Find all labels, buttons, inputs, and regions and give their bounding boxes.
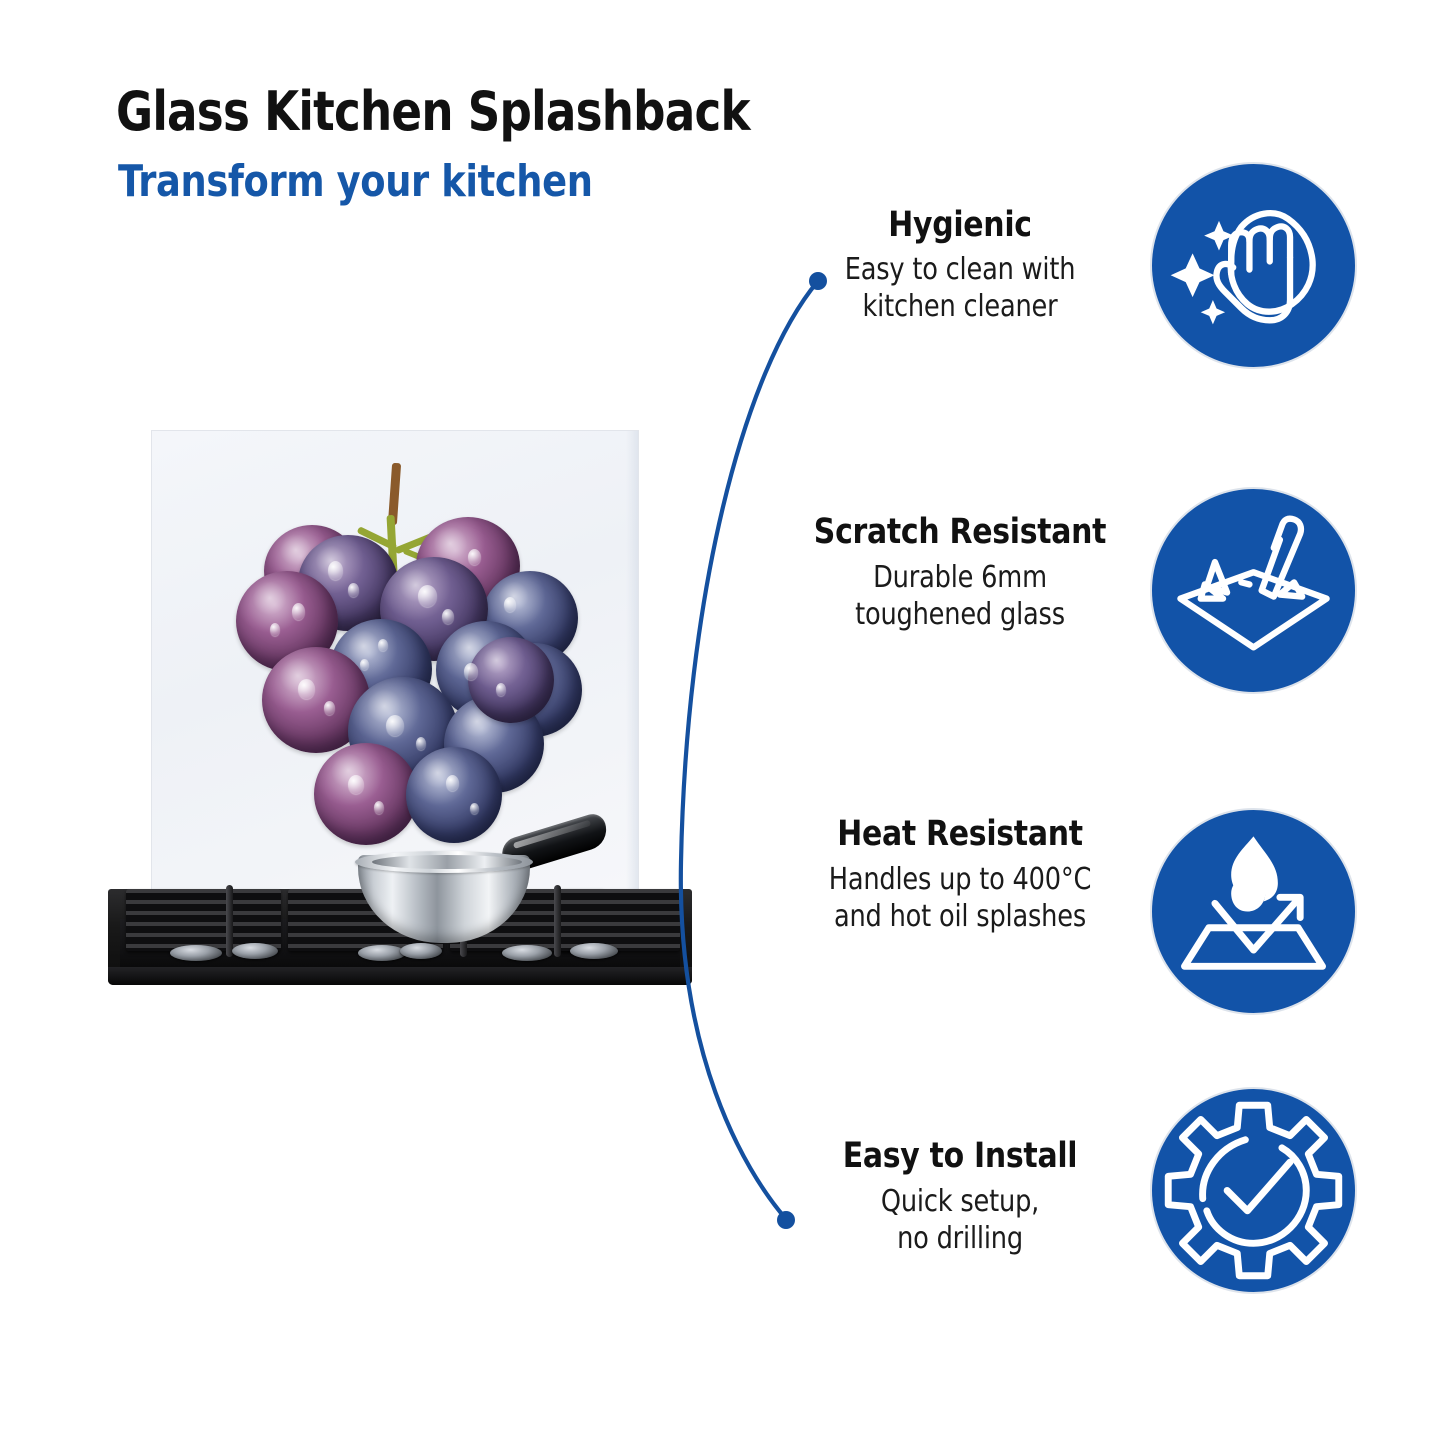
product-image [100, 420, 700, 1010]
feature-description: Quick setup, no drilling [780, 1184, 1141, 1257]
feature-icon-badge [1152, 164, 1355, 367]
feature-heading: Heat Resistant [780, 814, 1141, 854]
feature-icon-badge [1152, 489, 1355, 692]
flame-deflect-surface-icon [1152, 810, 1355, 1013]
wiping-hand-sparkle-icon [1152, 164, 1355, 367]
feature-heading: Hygienic [780, 205, 1141, 245]
feature-description-line: Handles up to 400°C [780, 862, 1141, 899]
feature-description-line: Durable 6mm [780, 560, 1141, 597]
feature-description-line: kitchen cleaner [780, 289, 1141, 326]
feature-description: Durable 6mm toughened glass [780, 560, 1141, 633]
feature-description-line: and hot oil splashes [780, 899, 1141, 936]
feature-icon-badge [1152, 1089, 1355, 1292]
feature-heading: Scratch Resistant [780, 512, 1141, 552]
feature-description: Easy to clean with kitchen cleaner [780, 252, 1141, 325]
feature-description: Handles up to 400°C and hot oil splashes [780, 862, 1141, 935]
feature-description-line: no drilling [780, 1221, 1141, 1258]
knife-impact-surface-icon [1152, 489, 1355, 692]
page-subtitle: Transform your kitchen [118, 156, 593, 207]
page-title: Glass Kitchen Splashback [116, 80, 750, 143]
infographic-canvas: Glass Kitchen Splashback Transform your … [0, 0, 1445, 1445]
feature-description-line: Easy to clean with [780, 252, 1141, 289]
frying-pan [358, 841, 608, 946]
gear-check-icon [1152, 1089, 1355, 1292]
feature-description-line: Quick setup, [780, 1184, 1141, 1221]
feature-description-line: toughened glass [780, 597, 1141, 634]
feature-icon-badge [1152, 810, 1355, 1013]
feature-heading: Easy to Install [780, 1136, 1141, 1176]
